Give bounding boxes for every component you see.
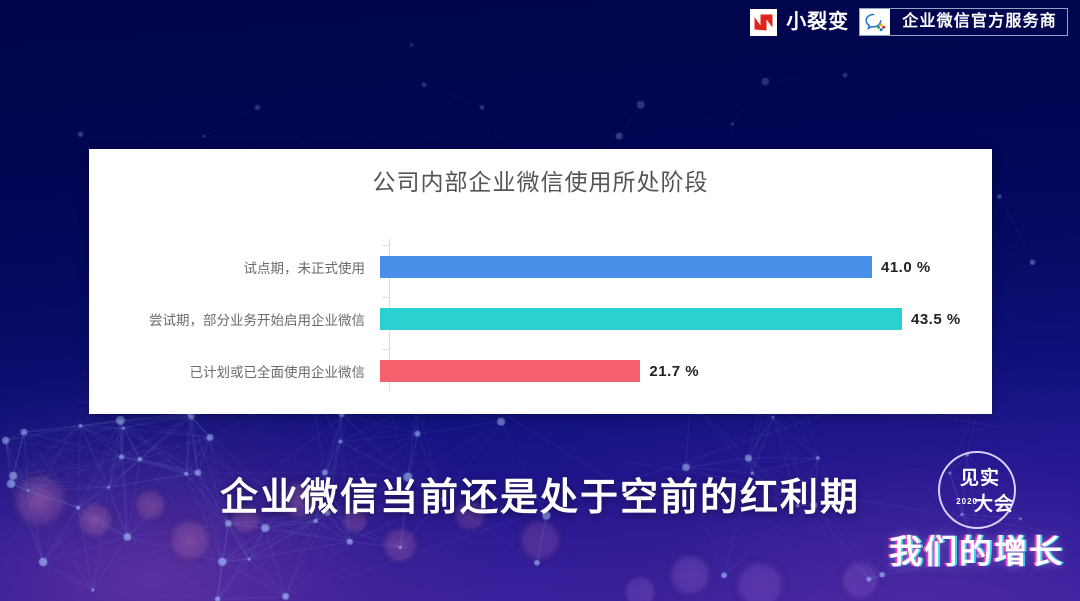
bar-category-label: 已计划或已全面使用企业微信 — [89, 361, 377, 381]
bar-chart-plot: 试点期，未正式使用41.0 %尝试期，部分业务开始启用企业微信43.5 %已计划… — [89, 235, 992, 395]
wecom-speech-bubble-icon — [860, 9, 890, 35]
chart-bar — [380, 256, 872, 278]
bar-with-value: 43.5 % — [380, 308, 961, 330]
brand-logo: 小裂变 — [750, 9, 849, 36]
chart-bar — [380, 360, 640, 382]
wecom-partner-badge: 企业微信官方服务商 — [859, 8, 1068, 36]
bar-value-label: 41.0 % — [881, 259, 931, 276]
chart-card: 公司内部企业微信使用所处阶段 试点期，未正式使用41.0 %尝试期，部分业务开始… — [89, 149, 992, 414]
bar-with-value: 21.7 % — [380, 360, 699, 382]
chart-title: 公司内部企业微信使用所处阶段 — [89, 163, 992, 197]
bar-value-label: 43.5 % — [911, 311, 961, 328]
event-logo-line1: 见实 — [960, 463, 1000, 490]
chart-bar-row: 试点期，未正式使用41.0 % — [89, 241, 992, 293]
chart-bar-row: 已计划或已全面使用企业微信21.7 % — [89, 345, 992, 397]
bar-with-value: 41.0 % — [380, 256, 931, 278]
chart-bar-row: 尝试期，部分业务开始启用企业微信43.5 % — [89, 293, 992, 345]
bar-value-label: 21.7 % — [649, 363, 699, 380]
chart-bar — [380, 308, 902, 330]
event-logo: 见实 2020 大会 我们的增长 — [854, 451, 1064, 591]
slide-canvas: 小裂变 企业微信官方服务商 公司内部企业微信使用所处阶段 试点期，未正式使用41… — [0, 0, 1080, 601]
brand-name: 小裂变 — [786, 12, 849, 32]
wecom-badge-label: 企业微信官方服务商 — [890, 9, 1067, 35]
event-logo-line2: 大会 — [974, 489, 1014, 516]
event-logo-main-title: 我们的增长 — [889, 525, 1064, 573]
bar-category-label: 尝试期，部分业务开始启用企业微信 — [89, 309, 377, 329]
lightning-n-logo-icon — [750, 9, 777, 36]
bar-category-label: 试点期，未正式使用 — [89, 257, 377, 277]
header-bar: 小裂变 企业微信官方服务商 — [750, 8, 1068, 36]
